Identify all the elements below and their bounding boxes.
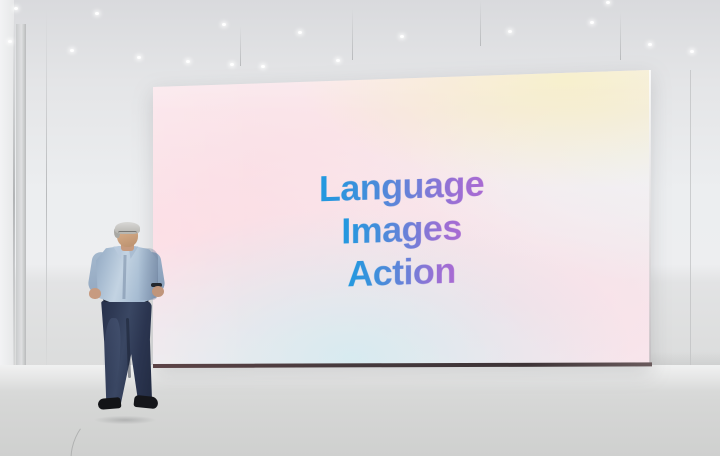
spotlight-3 <box>137 56 141 59</box>
ceiling-seam-1 <box>240 26 241 66</box>
screen-edge-bottom <box>153 362 652 368</box>
spotlight-7 <box>95 12 99 15</box>
spotlight-11 <box>400 35 404 38</box>
slide-line-language: Language <box>319 165 484 210</box>
presenter <box>78 222 184 424</box>
spotlight-2 <box>70 49 74 52</box>
presenter-shoe-left <box>98 397 122 410</box>
keynote-stage-screenshot: Language Images Action <box>0 0 720 456</box>
spotlight-4 <box>186 60 190 63</box>
ceiling-seam-3 <box>480 0 481 46</box>
slide-line-action: Action <box>347 252 455 295</box>
spotlight-12 <box>508 30 512 33</box>
spotlight-1 <box>8 40 12 43</box>
spotlight-14 <box>648 43 652 46</box>
spotlight-8 <box>14 7 18 10</box>
ceiling-seam-4 <box>620 12 621 60</box>
spotlight-9 <box>222 23 226 26</box>
presenter-shoe-right <box>133 395 158 409</box>
presenter-hand-left <box>89 288 101 299</box>
spotlight-13 <box>590 21 594 24</box>
slide-content: Language Images Action <box>153 70 650 366</box>
screen-edge-right <box>649 70 651 366</box>
presentation-screen: Language Images Action <box>150 64 656 370</box>
slide-line-images: Images <box>341 209 461 252</box>
presenter-hand-right <box>152 286 164 297</box>
spotlight-17 <box>336 59 340 62</box>
spotlight-10 <box>298 31 302 34</box>
ceiling-seam-2 <box>352 8 353 60</box>
spotlight-16 <box>606 1 610 4</box>
spotlight-15 <box>690 50 694 53</box>
presenter-glasses <box>118 231 137 236</box>
